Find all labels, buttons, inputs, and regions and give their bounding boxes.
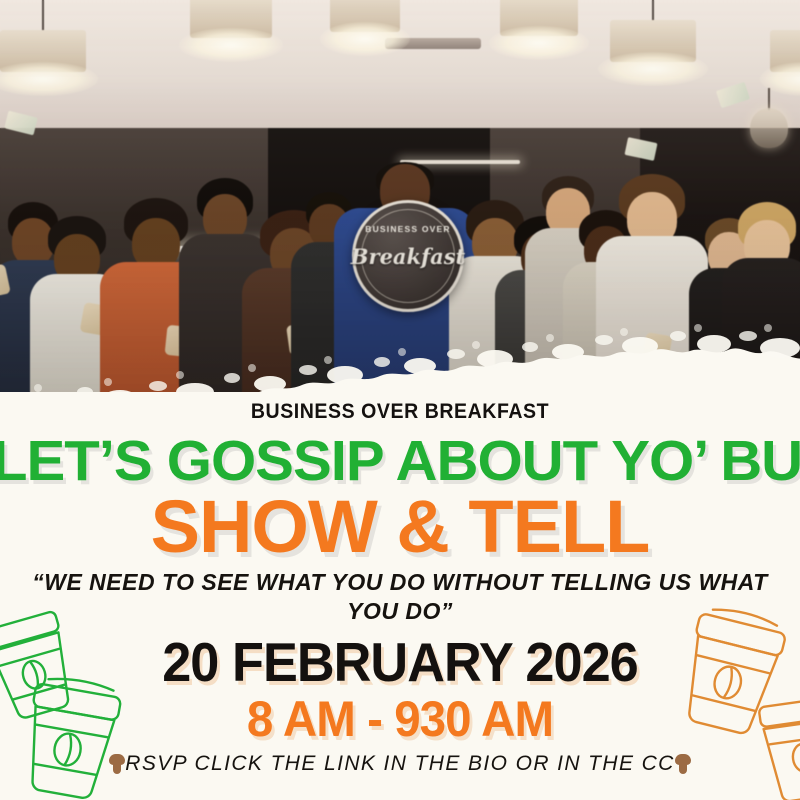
- kicker-text: BUSINESS OVER BREAKFAST: [28, 400, 772, 424]
- rsvp-line: RSVP CLICK THE LINK IN THE BIO OR IN THE…: [0, 752, 800, 776]
- logo-top-text: BUSINESS OVER: [365, 225, 451, 234]
- group-photo: BUSINESS OVER Breakfast: [0, 0, 800, 392]
- chandelier: [744, 88, 794, 152]
- pointing-up-hand-icon: [109, 754, 125, 774]
- event-time: 8 AM - 930 AM: [20, 690, 780, 748]
- pendant-light: [0, 0, 86, 100]
- logo-main-text: Breakfast: [351, 246, 466, 267]
- pendant-light: [500, 0, 578, 52]
- pendant-light: [330, 0, 400, 40]
- quote-block: “WE NEED TO SEE WHAT YOU DO WITHOUT TELL…: [0, 568, 800, 627]
- flyer-content: BUSINESS OVER BREAKFAST LET’S GOSSIP ABO…: [0, 392, 800, 800]
- event-flyer: BUSINESS OVER Breakfast: [0, 0, 800, 800]
- quote-line-1: “WE NEED TO SEE WHAT YOU DO WITHOUT TELL…: [32, 569, 768, 595]
- pointing-up-hand-icon: [675, 754, 691, 774]
- pendant-light: [610, 0, 696, 86]
- pendant-light: [190, 0, 272, 56]
- rsvp-text: RSVP CLICK THE LINK IN THE BIO OR IN THE…: [125, 752, 675, 775]
- quote-line-2: YOU DO”: [0, 597, 800, 626]
- pendant-light: [770, 0, 800, 92]
- attendee: [726, 186, 800, 392]
- business-over-breakfast-logo: BUSINESS OVER Breakfast: [352, 200, 464, 312]
- event-date: 20 FEBRUARY 2026: [20, 630, 780, 694]
- headline-secondary: SHOW & TELL: [0, 484, 800, 569]
